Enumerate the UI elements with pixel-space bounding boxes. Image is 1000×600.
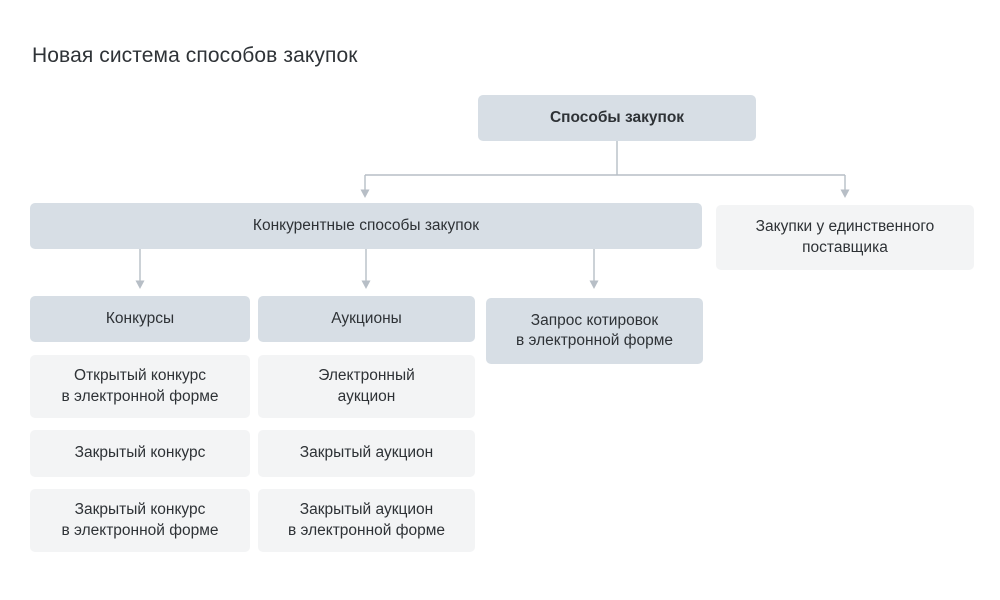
node-tender-child-1-line1: Закрытый конкурс xyxy=(75,443,206,463)
node-tender-child-0-line2: в электронной форме xyxy=(61,387,218,407)
node-auctions[interactable]: Аукционы xyxy=(258,296,475,342)
node-single-supplier[interactable]: Закупки у единственного поставщика xyxy=(716,205,974,270)
node-root[interactable]: Способы закупок xyxy=(478,95,756,141)
node-auction-child-0-line1: Электронный xyxy=(318,366,415,386)
node-tender-child-0-text: Открытый конкурс в электронной форме xyxy=(61,366,218,407)
arrowhead-tenders xyxy=(136,281,145,290)
node-quotation-request-line1: Запрос котировок xyxy=(516,311,673,331)
node-competitive-label: Конкурентные способы закупок xyxy=(253,216,479,236)
node-single-supplier-line1: Закупки у единственного xyxy=(756,217,935,237)
node-auctions-label: Аукционы xyxy=(331,309,402,329)
node-tenders-label: Конкурсы xyxy=(106,309,174,329)
node-auction-child-0[interactable]: Электронный аукцион xyxy=(258,355,475,418)
node-auction-child-2[interactable]: Закрытый аукцион в электронной форме xyxy=(258,489,475,552)
node-tender-child-2[interactable]: Закрытый конкурс в электронной форме xyxy=(30,489,250,552)
page-title: Новая система способов закупок xyxy=(32,44,358,68)
node-competitive[interactable]: Конкурентные способы закупок xyxy=(30,203,702,249)
node-auction-child-2-line1: Закрытый аукцион xyxy=(288,500,445,520)
node-single-supplier-line2: поставщика xyxy=(756,238,935,258)
node-quotation-request-text: Запрос котировок в электронной форме xyxy=(516,311,673,352)
arrowhead-auctions xyxy=(362,281,371,290)
node-tender-child-0[interactable]: Открытый конкурс в электронной форме xyxy=(30,355,250,418)
node-tender-child-2-line1: Закрытый конкурс xyxy=(61,500,218,520)
node-tender-child-2-text: Закрытый конкурс в электронной форме xyxy=(61,500,218,541)
node-tender-child-2-line2: в электронной форме xyxy=(61,521,218,541)
node-quotation-request[interactable]: Запрос котировок в электронной форме xyxy=(486,298,703,364)
node-tender-child-1[interactable]: Закрытый конкурс xyxy=(30,430,250,477)
node-auction-child-1-line1: Закрытый аукцион xyxy=(300,443,433,463)
node-root-label: Способы закупок xyxy=(550,108,684,128)
diagram-canvas: Новая система способов закупок Способы з… xyxy=(0,0,1000,600)
node-auction-child-2-line2: в электронной форме xyxy=(288,521,445,541)
node-tender-child-0-line1: Открытый конкурс xyxy=(61,366,218,386)
node-single-supplier-text: Закупки у единственного поставщика xyxy=(756,217,935,258)
node-quotation-request-line2: в электронной форме xyxy=(516,331,673,351)
arrowhead-single-supplier xyxy=(841,190,850,199)
node-auction-child-0-text: Электронный аукцион xyxy=(318,366,415,407)
node-auction-child-1[interactable]: Закрытый аукцион xyxy=(258,430,475,477)
arrowhead-competitive xyxy=(361,190,370,199)
node-tenders[interactable]: Конкурсы xyxy=(30,296,250,342)
node-auction-child-0-line2: аукцион xyxy=(318,387,415,407)
node-auction-child-2-text: Закрытый аукцион в электронной форме xyxy=(288,500,445,541)
arrowhead-quotation xyxy=(590,281,599,290)
